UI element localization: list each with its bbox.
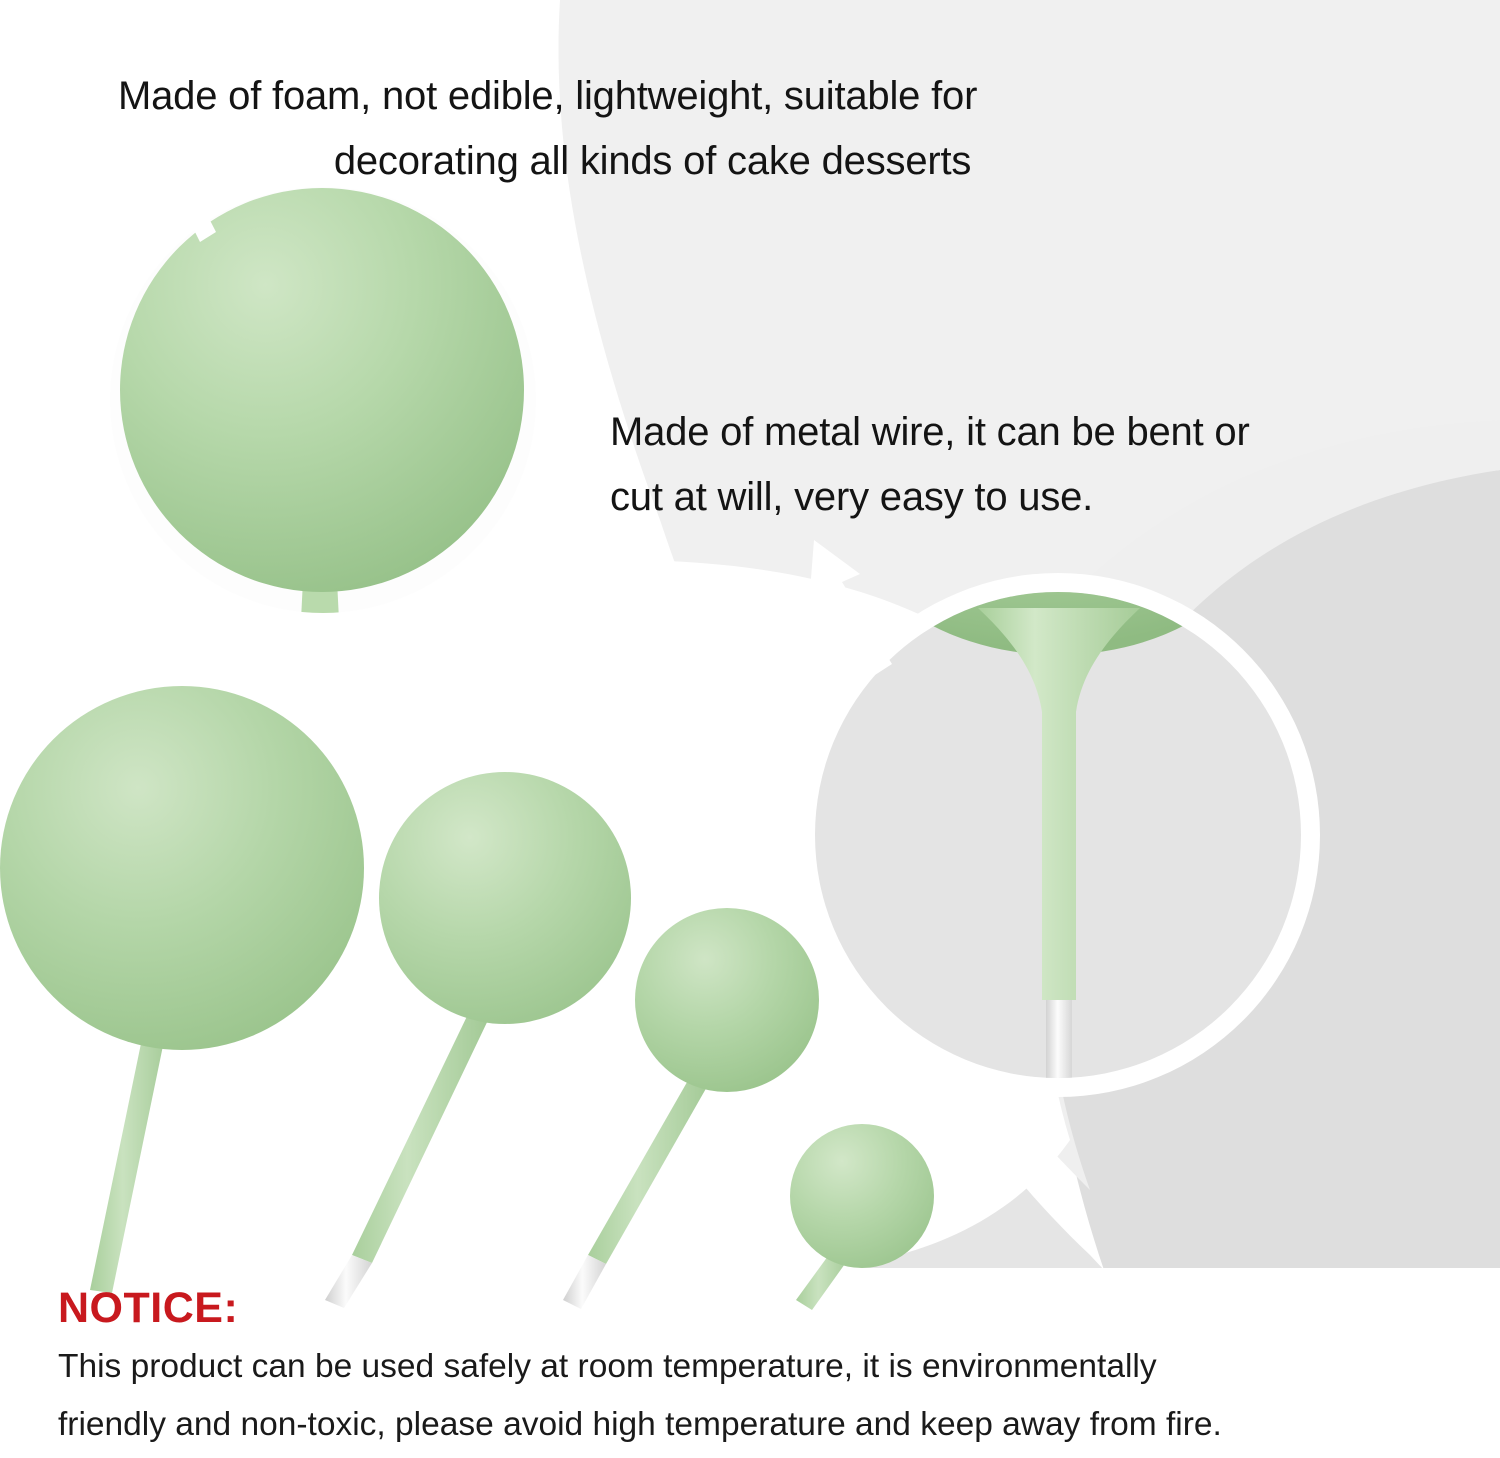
wire-callout-line-2: cut at will, very easy to use. xyxy=(610,465,1250,530)
foam-callout-line-1: Made of foam, not edible, lightweight, s… xyxy=(118,64,977,129)
pointer-arrow-to-wire-text xyxy=(790,528,960,683)
wire-callout-line-1: Made of metal wire, it can be bent or xyxy=(610,400,1250,465)
notice-line-1: This product can be used safely at room … xyxy=(58,1338,1458,1396)
arrow-icon xyxy=(809,540,892,675)
notice-title: NOTICE: xyxy=(58,1284,1458,1332)
foam-material-callout: Made of foam, not edible, lightweight, s… xyxy=(118,64,977,194)
infographic-canvas: Made of foam, not edible, lightweight, s… xyxy=(0,0,1500,1458)
notice-line-2: friendly and non-toxic, please avoid hig… xyxy=(58,1396,1458,1454)
notice-block: NOTICE: This product can be used safely … xyxy=(58,1284,1458,1453)
wire-material-callout: Made of metal wire, it can be bent or cu… xyxy=(610,400,1250,530)
notice-body: This product can be used safely at room … xyxy=(58,1338,1458,1453)
foam-callout-line-2: decorating all kinds of cake desserts xyxy=(118,129,977,194)
